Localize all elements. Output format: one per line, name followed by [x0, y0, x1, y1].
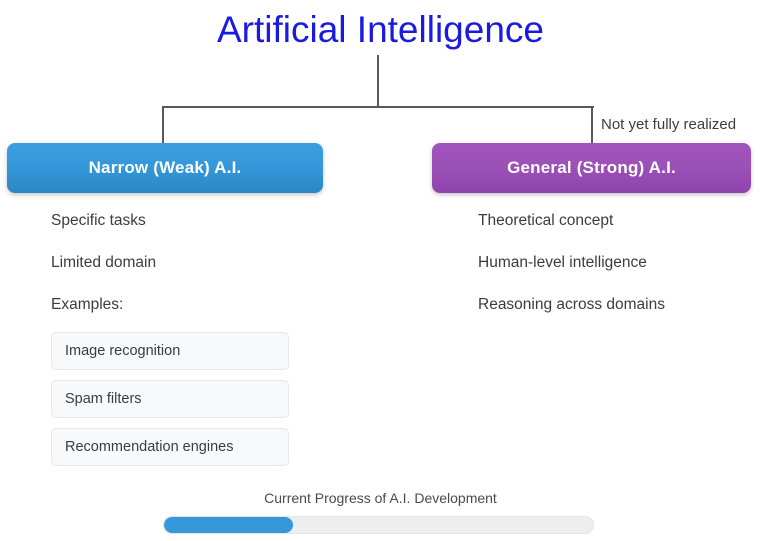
branch-note-general: Not yet fully realized	[601, 116, 736, 134]
progress-bar-fill	[164, 517, 293, 533]
narrow-bullet-2: Limited domain	[51, 254, 351, 272]
connector-drop-general	[591, 106, 593, 144]
connector-cross-horizontal	[162, 106, 594, 108]
narrow-ai-details: Specific tasks Limited domain Examples:	[51, 212, 351, 314]
example-chip[interactable]: Spam filters	[51, 380, 289, 418]
page-title: Artificial Intelligence	[0, 8, 761, 52]
branch-header-narrow-label: Narrow (Weak) A.I.	[89, 158, 242, 178]
general-bullet-2: Human-level intelligence	[478, 254, 761, 272]
example-chip[interactable]: Recommendation engines	[51, 428, 289, 466]
progress-label: Current Progress of A.I. Development	[0, 490, 761, 507]
general-bullet-3: Reasoning across domains	[478, 296, 761, 314]
branch-header-narrow[interactable]: Narrow (Weak) A.I.	[7, 143, 323, 193]
progress-bar[interactable]	[163, 516, 594, 534]
general-ai-details: Theoretical concept Human-level intellig…	[478, 212, 761, 314]
ai-taxonomy-diagram: Artificial Intelligence Not yet fully re…	[0, 0, 761, 541]
narrow-bullet-3: Examples:	[51, 296, 351, 314]
general-bullet-1: Theoretical concept	[478, 212, 761, 230]
example-chip[interactable]: Image recognition	[51, 332, 289, 370]
narrow-bullet-1: Specific tasks	[51, 212, 351, 230]
branch-header-general-label: General (Strong) A.I.	[507, 158, 676, 178]
narrow-ai-examples-list: Image recognition Spam filters Recommend…	[51, 332, 289, 466]
connector-drop-narrow	[162, 106, 164, 144]
connector-stem-vertical	[377, 55, 379, 108]
branch-header-general[interactable]: General (Strong) A.I.	[432, 143, 751, 193]
